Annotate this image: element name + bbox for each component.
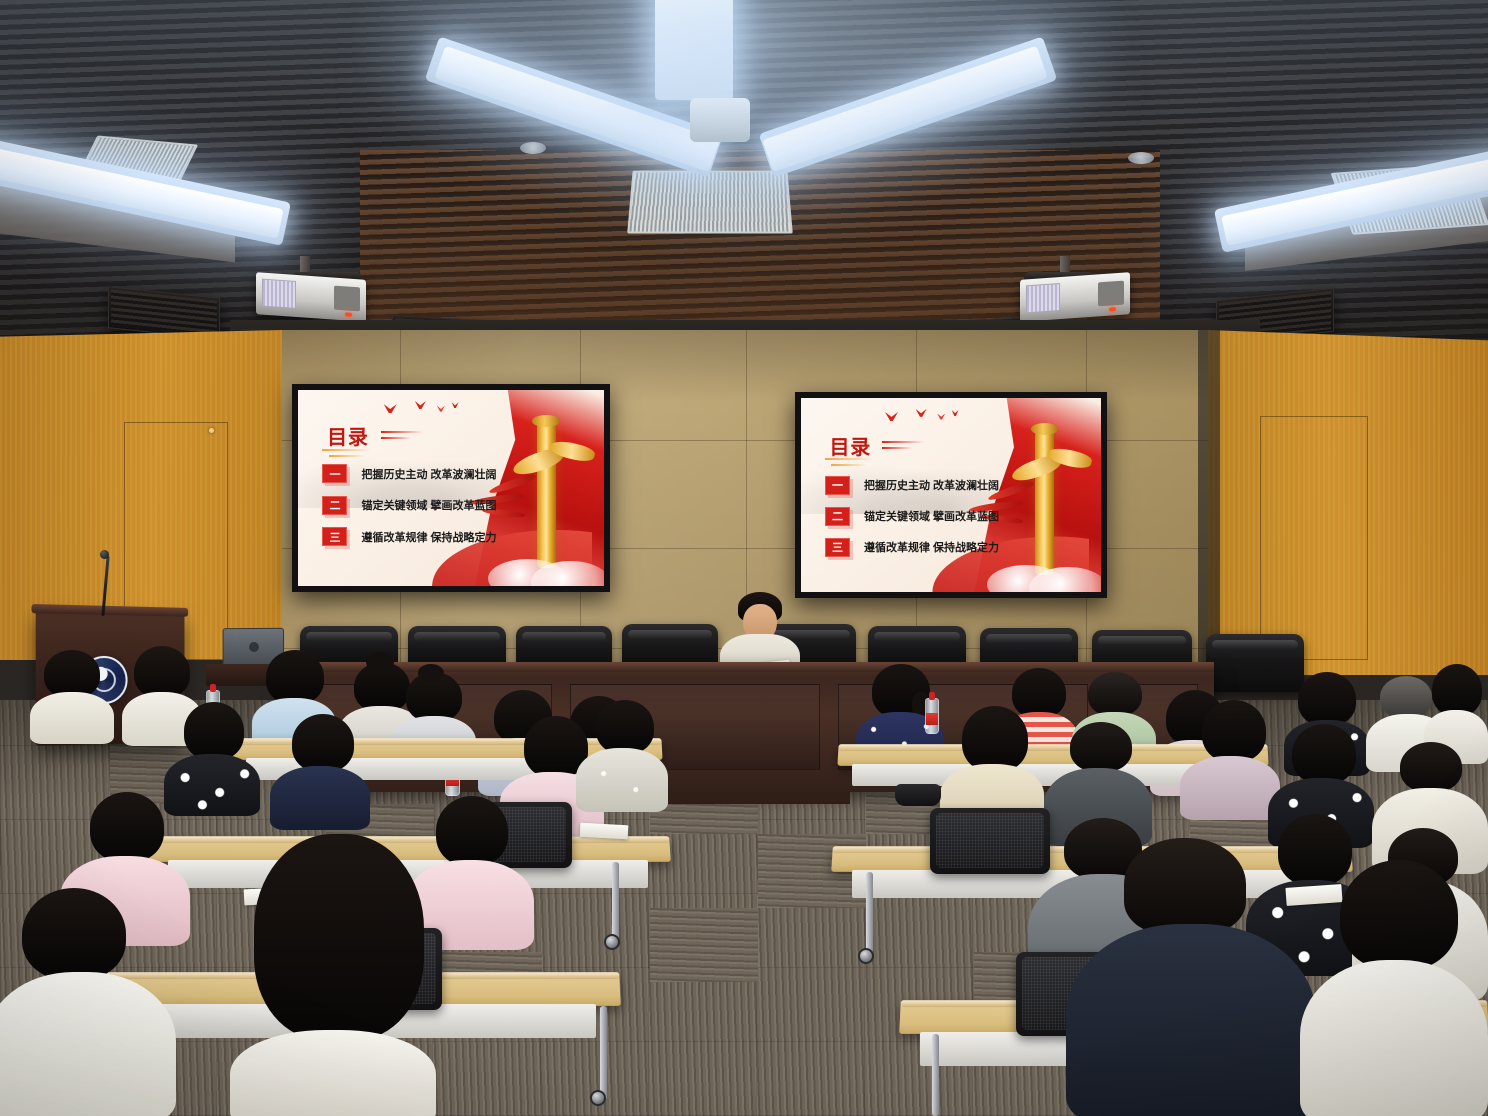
slide-toc-badge-2: 二 [322,496,347,515]
slide-huabiao-cap [532,415,560,427]
desk-row3-right-leg [866,872,873,954]
ceiling-downlight-1 [520,142,546,154]
desk-caster-1 [604,934,620,950]
left-led-screen[interactable]: 目录 一 把握历史主动 改革波澜壮阔 二 锚定关键领域 擘画改革蓝图 三 遵循改… [292,384,610,592]
slide2-title-underline-1 [825,458,873,460]
audience-person-31-foreground-right [1066,838,1316,1116]
projector-right-lens [1098,281,1124,307]
bird-icon-8 [952,410,959,416]
slide-title-dash-2 [381,437,412,439]
slide2-toc-badge-3: 三 [825,538,850,557]
right-screen-surface: 目录 一 把握历史主动 改革波澜壮阔 二 锚定关键领域 擘画改革蓝图 三 遵循改… [801,398,1101,592]
door-knob-left[interactable] [209,428,214,433]
slide-title-dash-1 [381,431,424,433]
podium-microphone-head[interactable] [100,550,109,559]
bird-icon-4 [452,402,459,408]
slide2-title-underline-2 [831,464,867,466]
audience-person-29-foreground-left [0,888,176,1116]
right-led-screen[interactable]: 目录 一 把握历史主动 改革波澜壮阔 二 锚定关键领域 擘画改革蓝图 三 遵循改… [795,392,1107,598]
meeting-room-photo: 目录 一 把握历史主动 改革波澜壮阔 二 锚定关键领域 擘画改革蓝图 三 遵循改… [0,0,1488,1116]
water-bottle-3[interactable] [925,698,939,734]
projector-left [256,272,366,322]
projector-right-grille [1026,283,1060,313]
slide-title-underline-2 [329,455,366,457]
bird-icon-3 [437,406,445,412]
papers-on-desk-2[interactable] [580,823,629,839]
projector-right [1020,272,1130,322]
slide-toc-text-2: 锚定关键领域 擘画改革蓝图 [361,497,496,513]
slide-toc-text-1: 把握历史主动 改革波澜壮阔 [361,466,496,482]
slide2-toc-text-2: 锚定关键领域 擘画改革蓝图 [864,508,999,524]
ceiling-light-y-stem [655,0,733,100]
desk-caster-2 [858,948,874,964]
right-wall [1208,330,1488,675]
audience-person-19 [940,706,1044,824]
bird-icon-2 [415,401,426,409]
desk-row3-left-leg [612,862,619,940]
audience-person-16 [270,714,370,826]
audience-person-30-foreground-center [230,834,436,1116]
slide-toc-badge-1: 一 [322,464,347,483]
projector-left-status-led [345,312,352,316]
slide-birds [384,400,476,420]
audience-person-32-foreground-far-right [1300,860,1488,1116]
slide2-toc-badge-1: 一 [825,476,850,495]
desk-caster-3 [590,1090,606,1106]
slide2-toc-text-3: 遵循改革规律 保持战略定力 [864,539,999,555]
left-screen-surface: 目录 一 把握历史主动 改革波澜壮阔 二 锚定关键领域 擘画改革蓝图 三 遵循改… [298,390,604,586]
slide2-title-dash-1 [882,441,924,443]
bird-icon-5 [885,412,898,421]
slide-toc-badge-3: 三 [322,527,347,546]
audience-person-1 [30,650,114,740]
air-vent-center [627,171,793,234]
side-door-right[interactable] [1260,416,1368,660]
slide-title-underline-1 [322,449,371,451]
slide-toc-text-3: 遵循改革规律 保持战略定力 [361,529,496,545]
projector-left-grille [262,279,296,309]
wall-corner-shadow [1198,330,1220,666]
slide2-huabiao-cap [1031,423,1058,435]
projector-left-lens [334,286,360,312]
slide-title: 目录 [327,421,369,450]
projector-right-status-led [1109,307,1116,311]
ceiling-light-y-hub [690,98,750,142]
desk-row4-right-leg [932,1034,939,1116]
desk-row4-left-leg [600,1006,607,1100]
slide2-toc-badge-2: 二 [825,507,850,526]
bird-icon-6 [916,409,927,417]
slide2-toc-text-1: 把握历史主动 改革波澜壮阔 [864,477,999,493]
bird-icon-1 [384,404,397,413]
slide2-title-dash-2 [882,447,912,449]
slide2-title: 目录 [830,431,872,460]
ceiling-downlight-2 [1128,152,1154,164]
audience-person-18 [576,700,668,810]
slide2-birds [885,408,975,427]
bird-icon-7 [937,414,945,420]
audience-person-21 [1180,700,1280,816]
handbag-on-desk[interactable] [895,784,941,806]
